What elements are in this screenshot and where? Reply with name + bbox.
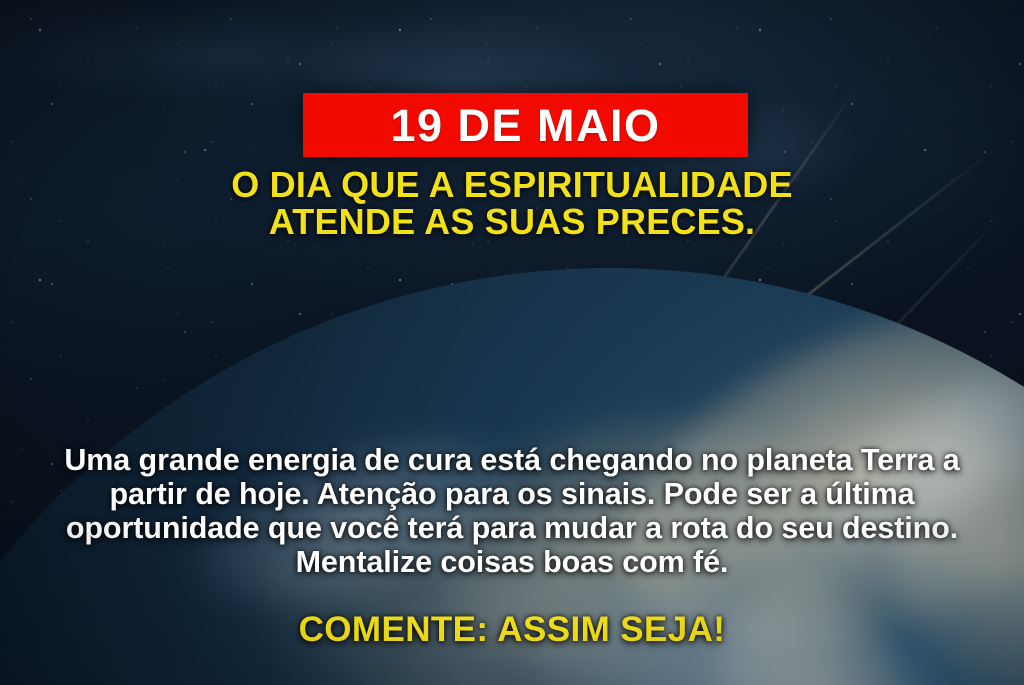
headline: O DIA QUE A ESPIRITUALIDADE ATENDE AS SU… bbox=[0, 166, 1024, 240]
date-banner-label: 19 DE MAIO bbox=[390, 103, 660, 148]
body-paragraph: Uma grande energia de cura está chegando… bbox=[52, 443, 972, 579]
headline-line-1: O DIA QUE A ESPIRITUALIDADE bbox=[0, 166, 1024, 203]
poster-canvas: 19 DE MAIO O DIA QUE A ESPIRITUALIDADE A… bbox=[0, 0, 1024, 685]
call-to-action-label: COMENTE: ASSIM SEJA! bbox=[0, 612, 1024, 647]
date-banner: 19 DE MAIO bbox=[303, 93, 748, 157]
headline-line-2: ATENDE AS SUAS PRECES. bbox=[0, 203, 1024, 240]
